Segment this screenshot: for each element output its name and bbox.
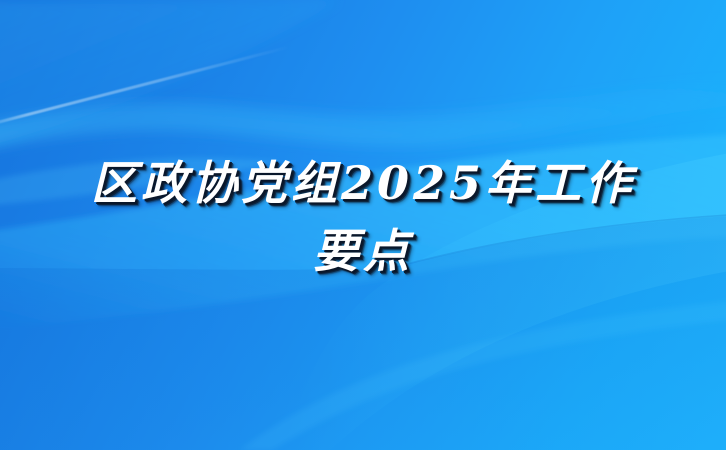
banner: 区政协党组2025年工作 要点 [0,0,726,450]
wave-shape-ripple [240,300,726,450]
banner-title: 区政协党组2025年工作 要点 [0,152,726,282]
title-line-1: 区政协党组2025年工作 [0,152,726,214]
wave-shape-upper [0,76,726,150]
highlight-streak [0,45,290,131]
title-line-2: 要点 [0,220,726,282]
wave-shape-top-tint [0,0,340,148]
